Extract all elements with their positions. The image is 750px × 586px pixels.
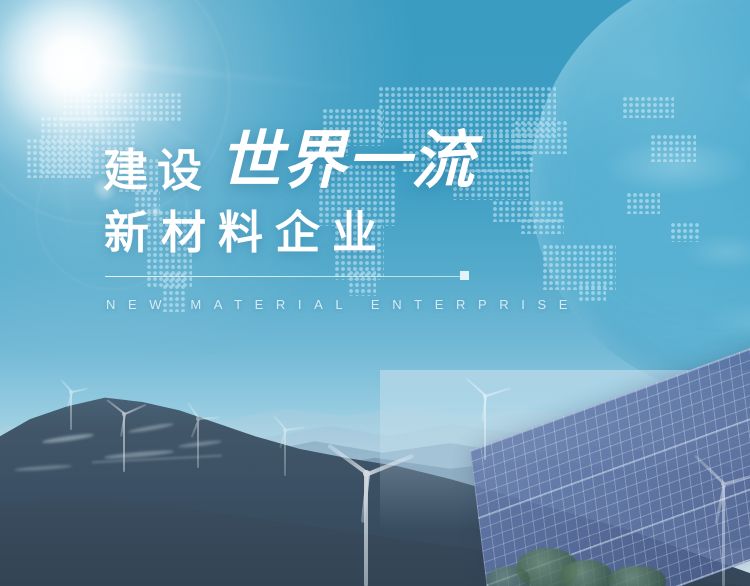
headline-line-1: 建设世界一流 (103, 130, 475, 193)
headline-block: 建设世界一流 新材料企业 NEW MATERIAL ENTERPRISE (0, 0, 750, 586)
headline-prefix: 建设 (103, 145, 211, 196)
promo-banner: 建设世界一流 新材料企业 NEW MATERIAL ENTERPRISE (0, 0, 750, 586)
headline-divider (105, 276, 460, 277)
headline-subtitle: NEW MATERIAL ENTERPRISE (106, 297, 580, 312)
headline-divider-cap (460, 271, 469, 280)
headline-emphasis: 世界一流 (219, 126, 475, 196)
headline-line-2: 新材料企业 (104, 210, 389, 255)
